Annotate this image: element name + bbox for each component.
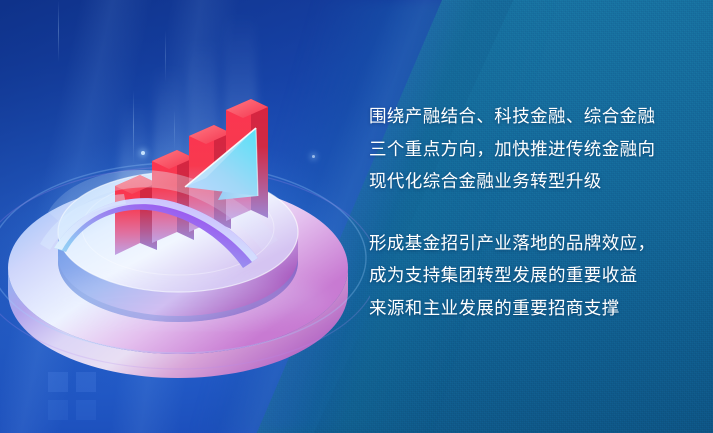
paragraph-outcome: 形成基金招引产业落地的品牌效应， 成为支持集团转型发展的重要收益 来源和主业发展… [369,227,689,325]
paragraph-strategy-line-3: 现代化综合金融业务转型升级 [369,171,602,191]
bar-2 [152,150,194,243]
paragraph-strategy-line-1: 围绕产融结合、科技金融、综合金融 [369,106,655,126]
growth-chart-illustration [0,0,370,433]
paragraph-strategy: 围绕产融结合、科技金融、综合金融 三个重点方向，加快推进传统金融向 现代化综合金… [369,100,689,198]
podium-bloom [28,274,328,326]
banner-slide: 围绕产融结合、科技金融、综合金融 三个重点方向，加快推进传统金融向 现代化综合金… [0,0,713,433]
paragraph-outcome-line-1: 形成基金招引产业落地的品牌效应， [369,233,655,253]
copy-block: 围绕产融结合、科技金融、综合金融 三个重点方向，加快推进传统金融向 现代化综合金… [369,100,689,324]
paragraph-strategy-line-2: 三个重点方向，加快推进传统金融向 [369,139,655,159]
paragraph-outcome-line-3: 来源和主业发展的重要招商支撑 [369,298,620,318]
paragraph-outcome-line-2: 成为支持集团转型发展的重要收益 [369,265,638,285]
